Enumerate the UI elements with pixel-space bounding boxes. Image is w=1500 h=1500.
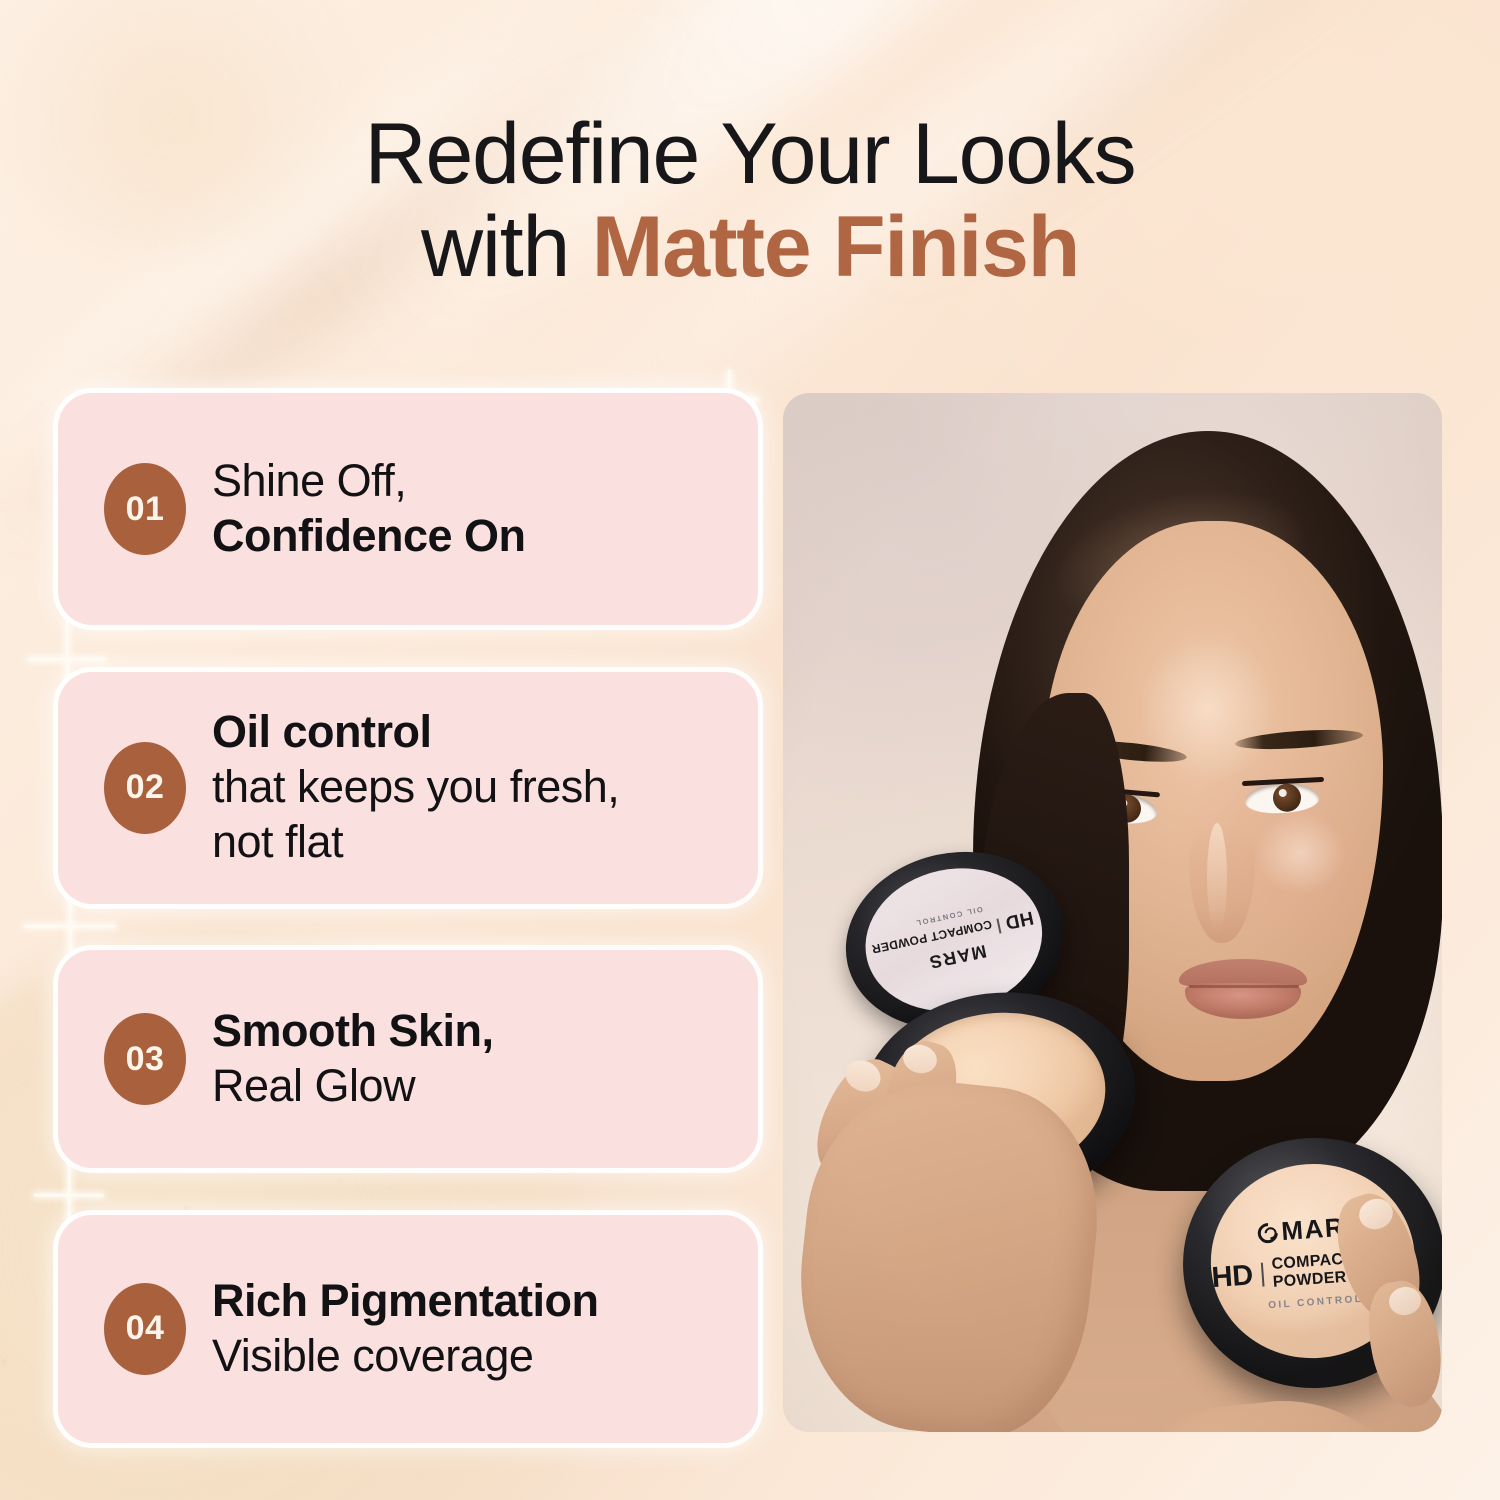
divider [997, 919, 1002, 934]
feature-number-badge: 01 [104, 463, 186, 555]
page-title: Redefine Your Looks with Matte Finish [0, 108, 1500, 294]
feature-number-badge: 04 [104, 1283, 186, 1375]
feature-list: 01 Shine Off, Confidence On 02 Oil contr… [58, 393, 758, 1443]
feature-number-badge: 03 [104, 1013, 186, 1105]
hd-label: HD [1003, 906, 1035, 933]
nose-highlight [1207, 823, 1227, 933]
feature-line: not flat [212, 815, 619, 870]
product-hero-image: MARS HD COMPACT POWDER OIL CONTROL MARS … [783, 393, 1442, 1432]
feature-number-badge: 02 [104, 742, 186, 834]
feature-line: Shine Off, [212, 454, 526, 509]
feature-card-03[interactable]: 03 Smooth Skin, Real Glow [58, 950, 758, 1168]
product-subtitle: OIL CONTROL [1268, 1294, 1364, 1312]
model-lips [1179, 959, 1307, 1019]
feature-line: Oil control [212, 705, 619, 760]
feature-text: Smooth Skin, Real Glow [212, 1004, 494, 1114]
feature-line: Confidence On [212, 509, 526, 564]
feature-line: Smooth Skin, [212, 1004, 494, 1059]
feature-text: Shine Off, Confidence On [212, 454, 526, 564]
headline-line-2: with Matte Finish [0, 201, 1500, 294]
feature-line: that keeps you fresh, [212, 760, 619, 815]
feature-line: Visible coverage [212, 1329, 599, 1384]
lower-lip [1185, 983, 1301, 1019]
headline-text-with: with [421, 199, 592, 295]
headline-text-primary: Redefine Your Looks [365, 106, 1136, 202]
mars-swirl-icon [1253, 1219, 1281, 1247]
feature-line: Real Glow [212, 1059, 494, 1114]
lip-line [1189, 985, 1299, 988]
divider [1261, 1263, 1264, 1287]
headline-line-1: Redefine Your Looks [0, 108, 1500, 201]
feature-text: Oil control that keeps you fresh, not fl… [212, 705, 619, 870]
iris [1272, 783, 1301, 812]
feature-card-02[interactable]: 02 Oil control that keeps you fresh, not… [58, 672, 758, 904]
feature-text: Rich Pigmentation Visible coverage [212, 1274, 599, 1384]
hd-label: HD [1211, 1259, 1254, 1295]
feature-card-04[interactable]: 04 Rich Pigmentation Visible coverage [58, 1215, 758, 1443]
headline-text-accent: Matte Finish [592, 199, 1079, 295]
feature-line: Rich Pigmentation [212, 1274, 599, 1329]
feature-card-01[interactable]: 01 Shine Off, Confidence On [58, 393, 758, 625]
